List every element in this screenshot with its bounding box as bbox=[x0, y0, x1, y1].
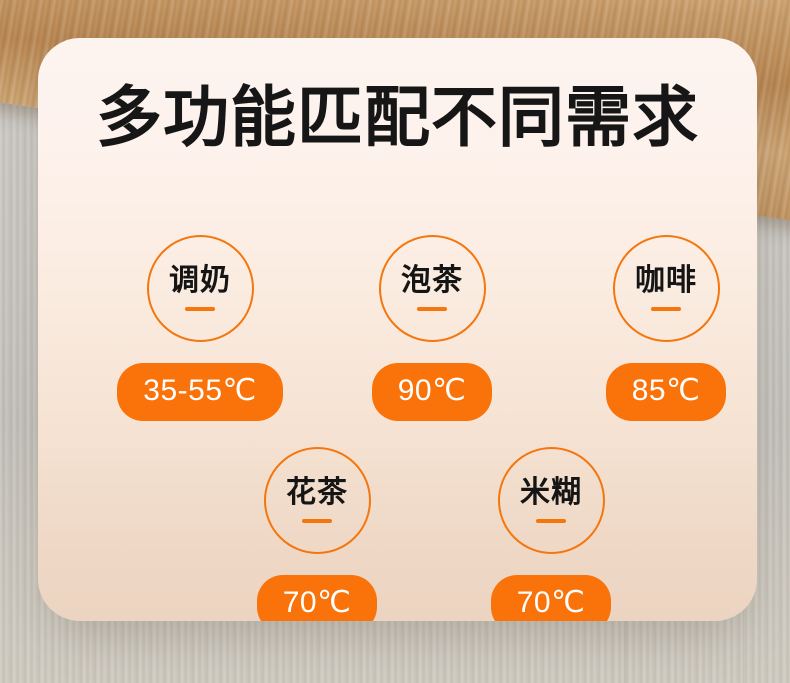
temperature-badge: 70℃ bbox=[491, 575, 612, 621]
mode-circle: 花茶 bbox=[264, 447, 371, 554]
temperature-badge: 90℃ bbox=[372, 363, 493, 421]
underline-dash-icon bbox=[185, 307, 215, 311]
mode-label: 泡茶 bbox=[401, 266, 463, 296]
mode-item-mihu[interactable]: 米糊 70℃ bbox=[466, 447, 636, 621]
mode-circle: 调奶 bbox=[147, 235, 254, 342]
underline-dash-icon bbox=[536, 519, 566, 523]
mode-circle: 米糊 bbox=[498, 447, 605, 554]
underline-dash-icon bbox=[651, 307, 681, 311]
mode-item-kafei[interactable]: 咖啡 85℃ bbox=[581, 235, 751, 421]
temperature-badge: 70℃ bbox=[257, 575, 378, 621]
mode-label: 米糊 bbox=[520, 478, 582, 508]
mode-item-tiaonai[interactable]: 调奶 35-55℃ bbox=[115, 235, 285, 421]
product-banner-scene: 多功能匹配不同需求 调奶 35-55℃ 泡茶 90℃ 咖啡 85℃ bbox=[0, 0, 790, 683]
underline-dash-icon bbox=[302, 519, 332, 523]
temperature-badge: 85℃ bbox=[606, 363, 727, 421]
mode-label: 咖啡 bbox=[635, 266, 697, 296]
mode-label: 花茶 bbox=[286, 478, 348, 508]
mode-circle: 泡茶 bbox=[379, 235, 486, 342]
mode-circle: 咖啡 bbox=[613, 235, 720, 342]
mode-item-paocha[interactable]: 泡茶 90℃ bbox=[347, 235, 517, 421]
underline-dash-icon bbox=[417, 307, 447, 311]
page-title: 多功能匹配不同需求 bbox=[38, 84, 757, 150]
mode-item-huacha[interactable]: 花茶 70℃ bbox=[232, 447, 402, 621]
mode-label: 调奶 bbox=[169, 266, 231, 296]
temperature-badge: 35-55℃ bbox=[117, 363, 282, 421]
feature-card: 多功能匹配不同需求 调奶 35-55℃ 泡茶 90℃ 咖啡 85℃ bbox=[38, 38, 757, 621]
